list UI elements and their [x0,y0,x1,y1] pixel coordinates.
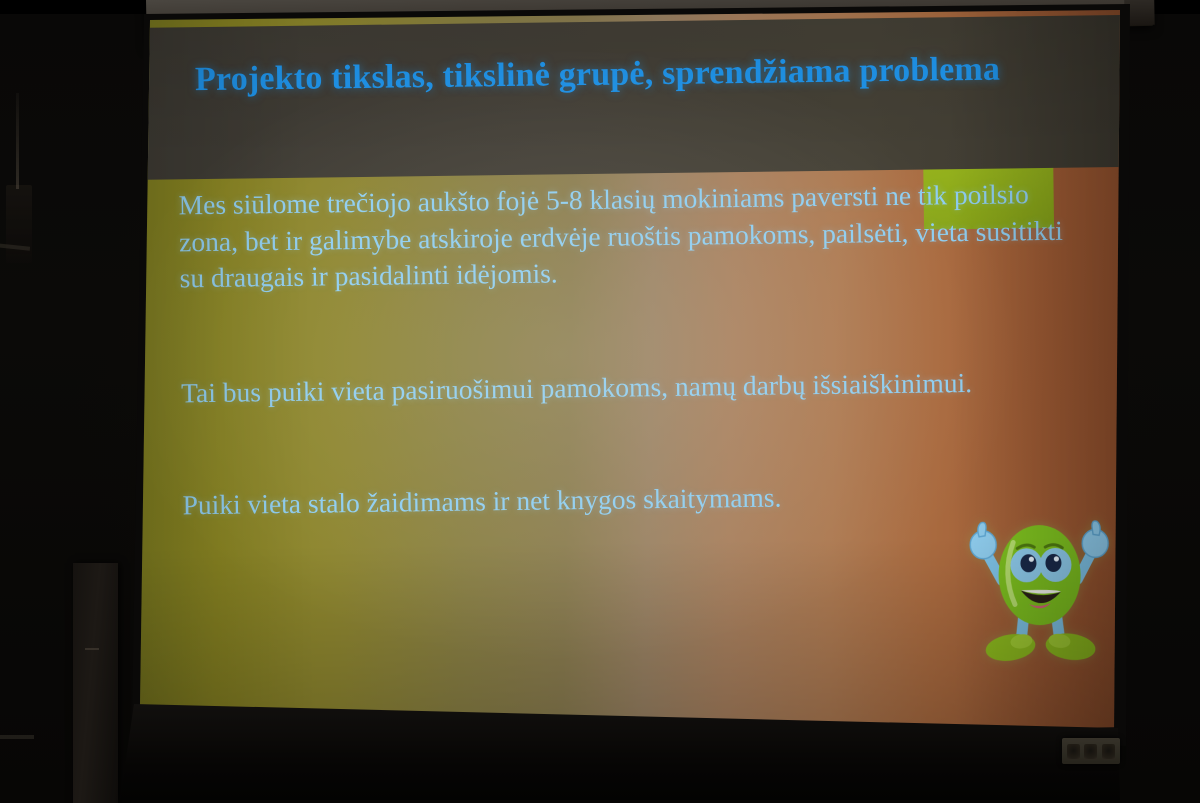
wall-fitting [6,185,32,263]
socket-hole [1102,744,1115,759]
speaker-seam [85,648,99,650]
wall-trim [0,735,34,739]
green-egg-character-icon [965,511,1115,669]
paragraph-gap-1 [180,285,1081,375]
wall-power-socket [1062,738,1120,764]
socket-hole [1067,744,1080,759]
photo-scene: Projekto tikslas, tikslinė grupė, sprend… [0,0,1200,803]
projected-slide-area: Projekto tikslas, tikslinė grupė, sprend… [120,4,1130,784]
wall-speaker [73,563,118,803]
socket-hole [1084,744,1097,759]
slide-body: Mes siūlome trečiojo aukšto fojė 5-8 kla… [178,176,1082,525]
presentation-slide: Projekto tikslas, tikslinė grupė, sprend… [128,0,1134,740]
paragraph-gap-2 [181,400,1082,488]
slide-paragraph-1: Mes siūlome trečiojo aukšto fojė 5-8 kla… [178,176,1079,297]
mascot-svg [965,511,1115,669]
